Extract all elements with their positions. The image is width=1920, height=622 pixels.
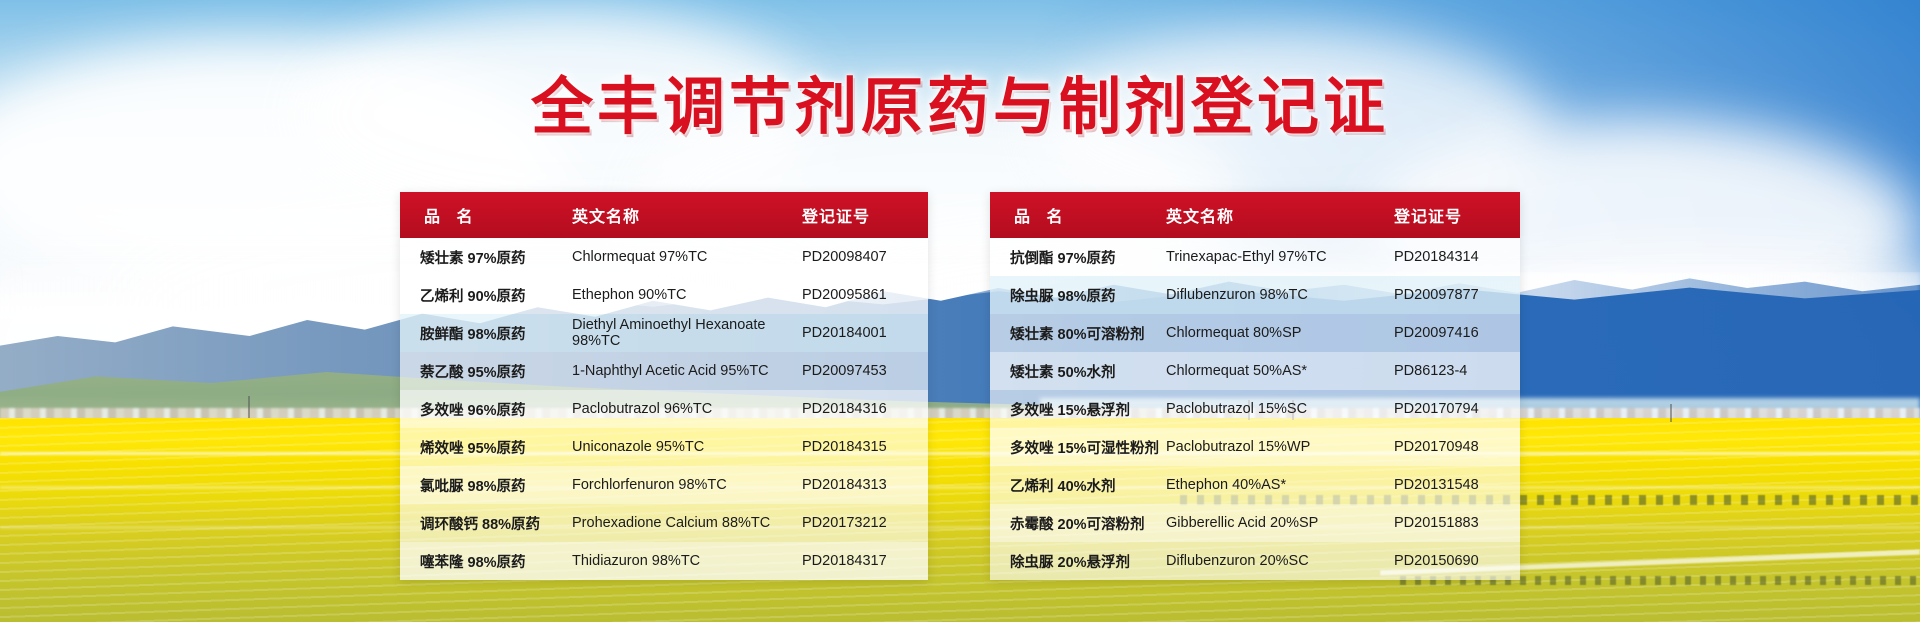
cell-english-name: Paclobutrazol 96%TC (572, 401, 802, 417)
cell-registration-number: PD20095861 (802, 287, 928, 303)
table-row[interactable]: 氯吡脲 98%原药 Forchlorfenuron 98%TC PD201843… (400, 466, 928, 504)
table-row[interactable]: 胺鲜酯 98%原药 Diethyl Aminoethyl Hexanoate 9… (400, 314, 928, 352)
table-row[interactable]: 矮壮素 80%可溶粉剂 Chlormequat 80%SP PD20097416 (990, 314, 1520, 352)
cell-registration-number: PD20151883 (1394, 515, 1520, 531)
rapeseed-fields (0, 418, 1920, 622)
cell-registration-number: PD20170948 (1394, 439, 1520, 455)
cell-english-name: Paclobutrazol 15%WP (1166, 439, 1394, 455)
cell-product-name: 赤霉酸 20%可溶粉剂 (990, 513, 1166, 534)
cell-english-name: Forchlorfenuron 98%TC (572, 477, 802, 493)
cell-registration-number: PD20184313 (802, 477, 928, 493)
cell-product-name: 除虫脲 20%悬浮剂 (990, 551, 1166, 572)
banner-stage: 全丰调节剂原药与制剂登记证 品 名 英文名称 登记证号 矮壮素 97%原药 Ch… (0, 0, 1920, 622)
cell-product-name: 噻苯隆 98%原药 (400, 551, 572, 572)
cell-registration-number: PD20131548 (1394, 477, 1520, 493)
cell-product-name: 烯效唑 95%原药 (400, 437, 572, 458)
cell-product-name: 氯吡脲 98%原药 (400, 475, 572, 496)
table-row[interactable]: 赤霉酸 20%可溶粉剂 Gibberellic Acid 20%SP PD201… (990, 504, 1520, 542)
cell-registration-number: PD20097877 (1394, 287, 1520, 303)
cell-registration-number: PD20184314 (1394, 249, 1520, 265)
cell-product-name: 抗倒酯 97%原药 (990, 247, 1166, 268)
cell-registration-number: PD20184316 (802, 401, 928, 417)
cell-english-name: Chlormequat 50%AS* (1166, 363, 1394, 379)
table-row[interactable]: 乙烯利 40%水剂 Ethephon 40%AS* PD20131548 (990, 466, 1520, 504)
cell-registration-number: PD20097453 (802, 363, 928, 379)
table-header-row: 品 名 英文名称 登记证号 (990, 192, 1520, 238)
cell-product-name: 萘乙酸 95%原药 (400, 361, 572, 382)
cell-english-name: Ethephon 40%AS* (1166, 477, 1394, 493)
power-pylon (1670, 404, 1672, 422)
cell-product-name: 胺鲜酯 98%原药 (400, 323, 572, 344)
table-row[interactable]: 矮壮素 50%水剂 Chlormequat 50%AS* PD86123-4 (990, 352, 1520, 390)
cell-english-name: Diethyl Aminoethyl Hexanoate 98%TC (572, 317, 802, 349)
cell-registration-number: PD20150690 (1394, 553, 1520, 569)
cell-registration-number: PD20097416 (1394, 325, 1520, 341)
field-divider (0, 486, 1920, 489)
power-pylon (248, 396, 250, 418)
table-body: 抗倒酯 97%原药 Trinexapac-Ethyl 97%TC PD20184… (990, 238, 1520, 580)
registration-table-right: 品 名 英文名称 登记证号 抗倒酯 97%原药 Trinexapac-Ethyl… (990, 192, 1520, 580)
table-row[interactable]: 乙烯利 90%原药 Ethephon 90%TC PD20095861 (400, 276, 928, 314)
table-row[interactable]: 矮壮素 97%原药 Chlormequat 97%TC PD20098407 (400, 238, 928, 276)
cell-english-name: Diflubenzuron 20%SC (1166, 553, 1394, 569)
table-row[interactable]: 调环酸钙 88%原药 Prohexadione Calcium 88%TC PD… (400, 504, 928, 542)
cell-english-name: Trinexapac-Ethyl 97%TC (1166, 249, 1394, 265)
cell-product-name: 矮壮素 80%可溶粉剂 (990, 323, 1166, 344)
cell-registration-number: PD20173212 (802, 515, 928, 531)
table-row[interactable]: 萘乙酸 95%原药 1-Naphthyl Acetic Acid 95%TC P… (400, 352, 928, 390)
column-header-product-name: 品 名 (990, 203, 1166, 227)
cell-product-name: 多效唑 96%原药 (400, 399, 572, 420)
cell-product-name: 调环酸钙 88%原药 (400, 513, 572, 534)
table-row[interactable]: 多效唑 96%原药 Paclobutrazol 96%TC PD20184316 (400, 390, 928, 428)
cell-english-name: Prohexadione Calcium 88%TC (572, 515, 802, 531)
cell-product-name: 多效唑 15%悬浮剂 (990, 399, 1166, 420)
cell-product-name: 矮壮素 97%原药 (400, 247, 572, 268)
table-body: 矮壮素 97%原药 Chlormequat 97%TC PD20098407 乙… (400, 238, 928, 580)
cell-english-name: Chlormequat 80%SP (1166, 325, 1394, 341)
cell-registration-number: PD20170794 (1394, 401, 1520, 417)
cell-product-name: 乙烯利 40%水剂 (990, 475, 1166, 496)
page-title: 全丰调节剂原药与制剂登记证 (0, 56, 1920, 146)
cell-english-name: Paclobutrazol 15%SC (1166, 401, 1394, 417)
cell-registration-number: PD20184315 (802, 439, 928, 455)
cell-english-name: Gibberellic Acid 20%SP (1166, 515, 1394, 531)
cell-english-name: Diflubenzuron 98%TC (1166, 287, 1394, 303)
cell-product-name: 矮壮素 50%水剂 (990, 361, 1166, 382)
table-row[interactable]: 除虫脲 98%原药 Diflubenzuron 98%TC PD20097877 (990, 276, 1520, 314)
cell-product-name: 乙烯利 90%原药 (400, 285, 572, 306)
table-row[interactable]: 噻苯隆 98%原药 Thidiazuron 98%TC PD20184317 (400, 542, 928, 580)
column-header-registration-number: 登记证号 (802, 203, 928, 227)
table-row[interactable]: 多效唑 15%可湿性粉剂 Paclobutrazol 15%WP PD20170… (990, 428, 1520, 466)
cell-english-name: Chlormequat 97%TC (572, 249, 802, 265)
cell-english-name: Ethephon 90%TC (572, 287, 802, 303)
field-divider (0, 526, 1920, 529)
cell-registration-number: PD20184001 (802, 325, 928, 341)
table-row[interactable]: 多效唑 15%悬浮剂 Paclobutrazol 15%SC PD2017079… (990, 390, 1520, 428)
cell-product-name: 除虫脲 98%原药 (990, 285, 1166, 306)
cell-english-name: Uniconazole 95%TC (572, 439, 802, 455)
field-divider (0, 452, 1920, 455)
table-row[interactable]: 烯效唑 95%原药 Uniconazole 95%TC PD20184315 (400, 428, 928, 466)
cell-registration-number: PD86123-4 (1394, 363, 1520, 379)
cell-english-name: Thidiazuron 98%TC (572, 553, 802, 569)
column-header-product-name: 品 名 (400, 203, 572, 227)
table-header-row: 品 名 英文名称 登记证号 (400, 192, 928, 238)
column-header-english-name: 英文名称 (572, 203, 802, 227)
table-row[interactable]: 除虫脲 20%悬浮剂 Diflubenzuron 20%SC PD2015069… (990, 542, 1520, 580)
cell-registration-number: PD20098407 (802, 249, 928, 265)
column-header-english-name: 英文名称 (1166, 203, 1394, 227)
cell-registration-number: PD20184317 (802, 553, 928, 569)
column-header-registration-number: 登记证号 (1394, 203, 1520, 227)
table-row[interactable]: 抗倒酯 97%原药 Trinexapac-Ethyl 97%TC PD20184… (990, 238, 1520, 276)
cell-product-name: 多效唑 15%可湿性粉剂 (990, 437, 1166, 458)
cell-english-name: 1-Naphthyl Acetic Acid 95%TC (572, 363, 802, 379)
registration-table-left: 品 名 英文名称 登记证号 矮壮素 97%原药 Chlormequat 97%T… (400, 192, 928, 580)
